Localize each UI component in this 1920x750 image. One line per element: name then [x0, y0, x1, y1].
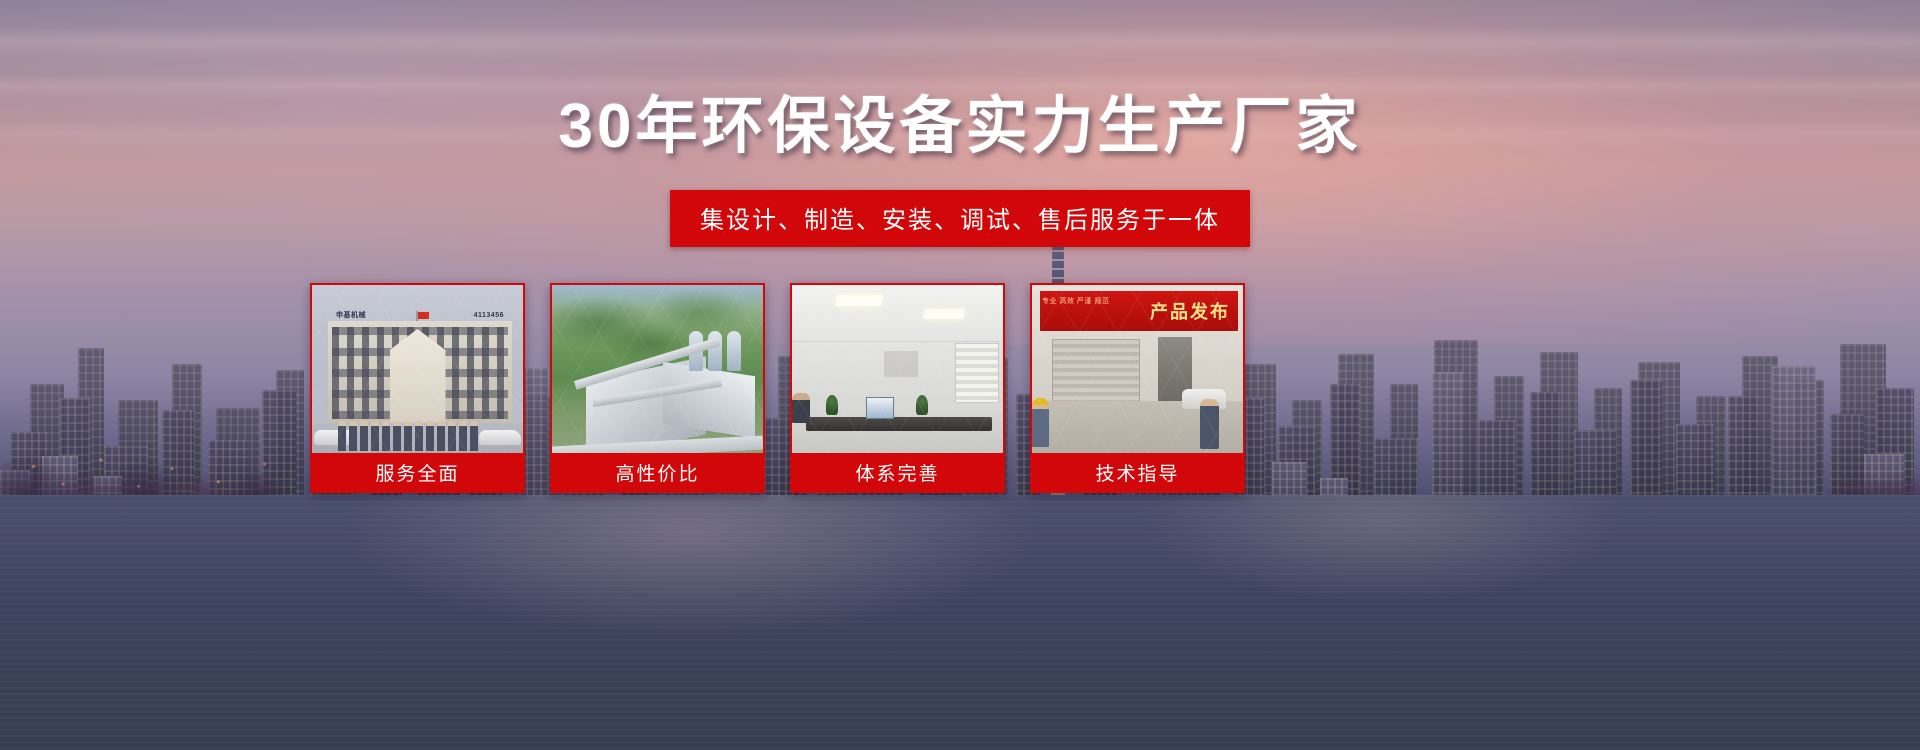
feature-card[interactable]: 产品发布 专业 高效 严谨 规范 技术指导: [1030, 283, 1245, 493]
card-photo: 申基机械 4113456: [312, 285, 523, 457]
worker: [1032, 403, 1049, 447]
water-reflection: [0, 495, 1920, 750]
potted-plant: [826, 395, 838, 415]
phone-label: 4113456: [474, 312, 504, 319]
office-window: [955, 343, 999, 403]
page-title: 30年环保设备实力生产厂家: [0, 96, 1920, 158]
ceiling-light: [835, 295, 884, 306]
potted-plant: [916, 395, 928, 415]
staff-lineup: [338, 421, 502, 453]
feature-card-list: 申基机械 4113456 服务全面: [310, 283, 1260, 493]
monitor-icon: [866, 397, 894, 419]
feature-card[interactable]: 申基机械 4113456 服务全面: [310, 283, 525, 493]
card-caption: 技术指导: [1032, 453, 1243, 491]
card-caption: 服务全面: [312, 453, 523, 491]
card-photo: [792, 285, 1003, 457]
brand-label: 申基机械: [336, 310, 366, 320]
card-caption: 高性价比: [552, 453, 763, 491]
subtitle-badge: 集设计、制造、安装、调试、售后服务于一体: [670, 190, 1250, 247]
feature-card[interactable]: 高性价比: [550, 283, 765, 493]
card-photo: 产品发布 专业 高效 严谨 规范: [1032, 285, 1243, 457]
wall-art: [884, 351, 918, 377]
feature-card[interactable]: 体系完善: [790, 283, 1005, 493]
hero-banner: 30年环保设备实力生产厂家 集设计、制造、安装、调试、售后服务于一体 申基机械 …: [0, 0, 1920, 750]
card-caption: 体系完善: [792, 453, 1003, 491]
cloud-band: [0, 26, 1920, 60]
supervisor: [1200, 399, 1219, 449]
meeting-table: [806, 417, 992, 431]
office-floor: [792, 405, 1003, 457]
card-photo: [552, 285, 763, 457]
ceiling-light: [923, 309, 965, 319]
team-member: [792, 393, 810, 423]
roller-shutter: [1052, 339, 1140, 405]
factory-banner-subtext: 专业 高效 严谨 规范: [1042, 297, 1109, 308]
office-ceiling: [792, 285, 1003, 342]
